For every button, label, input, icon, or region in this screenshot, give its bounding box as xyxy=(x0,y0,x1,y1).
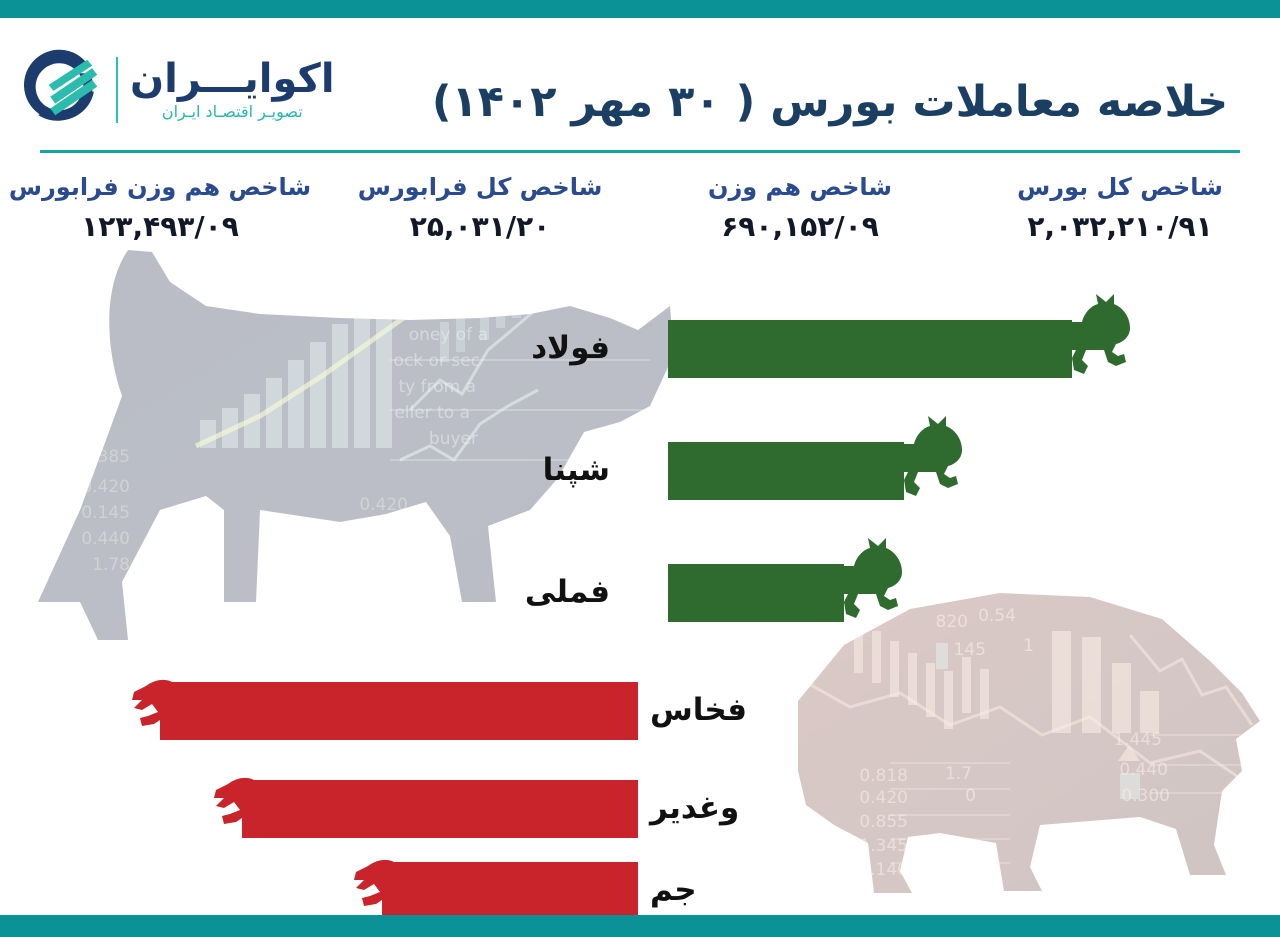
stat-label: شاخص هم وزن xyxy=(708,172,892,202)
table-row: فخاس xyxy=(120,660,760,750)
bottom-accent-rule xyxy=(0,915,1280,937)
logo-divider xyxy=(116,57,118,123)
bar-positive xyxy=(668,442,904,500)
bear-icon xyxy=(210,752,306,848)
header-divider xyxy=(40,150,1240,153)
bar-label: فخاس xyxy=(650,680,747,740)
bull-icon xyxy=(1038,292,1134,388)
bar-label: فملی xyxy=(525,562,610,622)
stat-value: ۲۵,۰۳۱/۲۰ xyxy=(410,210,551,243)
bar-label: وغدیر xyxy=(650,778,739,838)
table-row: فملی xyxy=(560,542,1200,632)
stat-value: ۲,۰۳۲,۲۱۰/۹۱ xyxy=(1027,210,1212,243)
bar-label: جم xyxy=(650,860,697,920)
brand-tagline: تصویـر اقتصـاد ایـران xyxy=(162,102,303,123)
impact-bar-chart: فولاد شپنا فملی xyxy=(0,270,1280,910)
stat-label: شاخص کل بورس xyxy=(1017,172,1223,202)
stat-value: ۶۹۰,۱۵۲/۰۹ xyxy=(721,210,879,243)
stat-farabourse-total-index: شاخص کل فرابورس ۲۵,۰۳۱/۲۰ xyxy=(320,172,640,258)
bar-label: شپنا xyxy=(543,440,610,500)
brand-logo[interactable]: اکوایـــران تصویـر اقتصـاد ایـران xyxy=(20,40,260,140)
header: اکوایـــران تصویـر اقتصـاد ایـران خلاصه … xyxy=(0,18,1280,148)
infographic-canvas: اکوایـــران تصویـر اقتصـاد ایـران خلاصه … xyxy=(0,0,1280,937)
stat-farabourse-equal-weight-index: شاخص هم وزن فرابورس ۱۲۳,۴۹۳/۰۹ xyxy=(0,172,320,258)
brand-name: اکوایـــران xyxy=(130,58,335,100)
top-accent-rule xyxy=(0,0,1280,18)
stat-label: شاخص هم وزن فرابورس xyxy=(9,172,311,202)
stat-equal-weight-index: شاخص هم وزن ۶۹۰,۱۵۲/۰۹ xyxy=(640,172,960,258)
stat-value: ۱۲۳,۴۹۳/۰۹ xyxy=(81,210,239,243)
table-row: فولاد xyxy=(560,298,1200,388)
bar-negative xyxy=(160,682,638,740)
bull-icon xyxy=(870,414,966,510)
bull-icon xyxy=(810,536,906,632)
bar-label: فولاد xyxy=(531,318,610,378)
bar-positive xyxy=(668,320,1072,378)
swoosh-circle-icon xyxy=(20,48,104,132)
table-row: شپنا xyxy=(560,420,1200,510)
bear-icon xyxy=(128,654,224,750)
index-stats-row: شاخص کل بورس ۲,۰۳۲,۲۱۰/۹۱ شاخص هم وزن ۶۹… xyxy=(0,172,1280,258)
stat-label: شاخص کل فرابورس xyxy=(358,172,603,202)
brand-wordmark: اکوایـــران تصویـر اقتصـاد ایـران xyxy=(130,58,335,123)
page-title: خلاصه معاملات بورس ( ۳۰ مهر ۱۴۰۲) xyxy=(430,66,1230,138)
stat-total-index: شاخص کل بورس ۲,۰۳۲,۲۱۰/۹۱ xyxy=(960,172,1280,258)
